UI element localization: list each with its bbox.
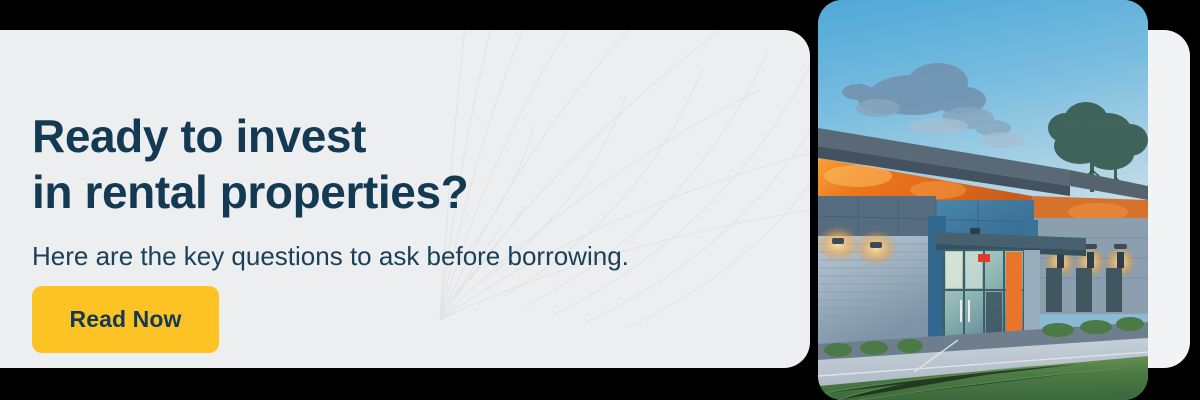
subheadline: Here are the key questions to ask before… [32, 220, 752, 274]
building-photo [818, 0, 1148, 400]
read-now-button[interactable]: Read Now [32, 286, 219, 353]
page-title: Ready to invest in rental properties? [32, 108, 752, 220]
promo-banner: Ready to invest in rental properties? He… [0, 0, 1200, 400]
content-panel: Ready to invest in rental properties? He… [0, 30, 810, 368]
text-block: Ready to invest in rental properties? He… [32, 108, 752, 274]
